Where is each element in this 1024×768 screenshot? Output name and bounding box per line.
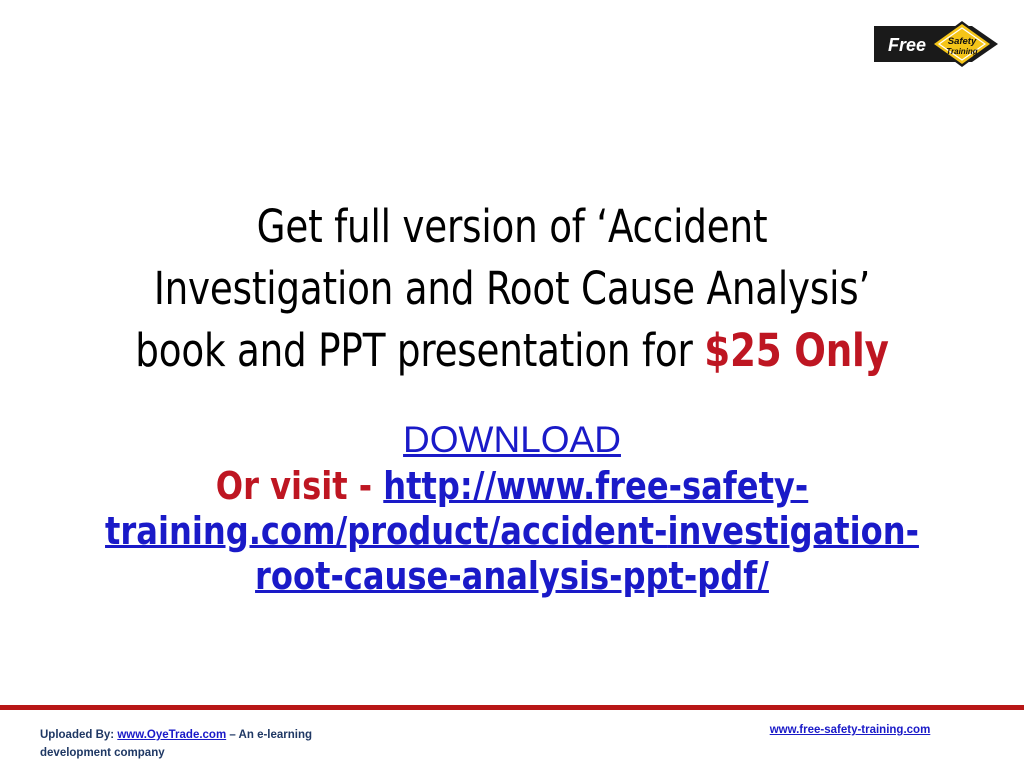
uploader-line-2: development company — [40, 747, 165, 759]
headline: Get full version of ‘Accident Investigat… — [98, 196, 926, 382]
product-url-line-2: training.com/product/accident- — [105, 509, 667, 553]
footer-divider — [0, 705, 1024, 710]
or-visit-label: Or visit - — [216, 464, 384, 508]
headline-line-3-prefix: book and PPT presentation for — [135, 324, 704, 377]
logo-badge-line1: Safety — [948, 36, 977, 47]
slide-canvas: Free Safety Training Get full version of… — [0, 0, 1024, 768]
or-visit-line: Or visit - http://www.free-safety-traini… — [80, 464, 945, 599]
free-safety-training-logo: Free Safety Training — [872, 18, 1000, 70]
headline-line-3: book and PPT presentation for $25 Only — [98, 320, 926, 382]
price-highlight: $25 Only — [704, 324, 888, 377]
site-url-link[interactable]: www.free-safety-training.com — [700, 722, 1000, 738]
headline-line-1: Get full version of ‘Accident — [98, 196, 926, 258]
logo-badge-line2: Training — [946, 47, 978, 56]
uploader-suffix: – An e-learning — [226, 729, 312, 741]
logo-graphic: Free Safety Training — [872, 18, 1000, 70]
logo-free-text: Free — [888, 35, 926, 55]
uploaded-by-label: Uploaded By: — [40, 729, 117, 741]
download-link[interactable]: DOWNLOAD — [52, 418, 972, 462]
product-url-line-1: http://www.free-safety- — [383, 464, 808, 508]
footer-uploader-credit: Uploaded By: www.OyeTrade.com – An e-lea… — [40, 726, 470, 762]
oyetrade-link[interactable]: www.OyeTrade.com — [117, 729, 226, 741]
headline-line-2: Investigation and Root Cause Analysis’ — [98, 258, 926, 320]
download-link-block: DOWNLOAD Or visit - http://www.free-safe… — [52, 418, 972, 599]
